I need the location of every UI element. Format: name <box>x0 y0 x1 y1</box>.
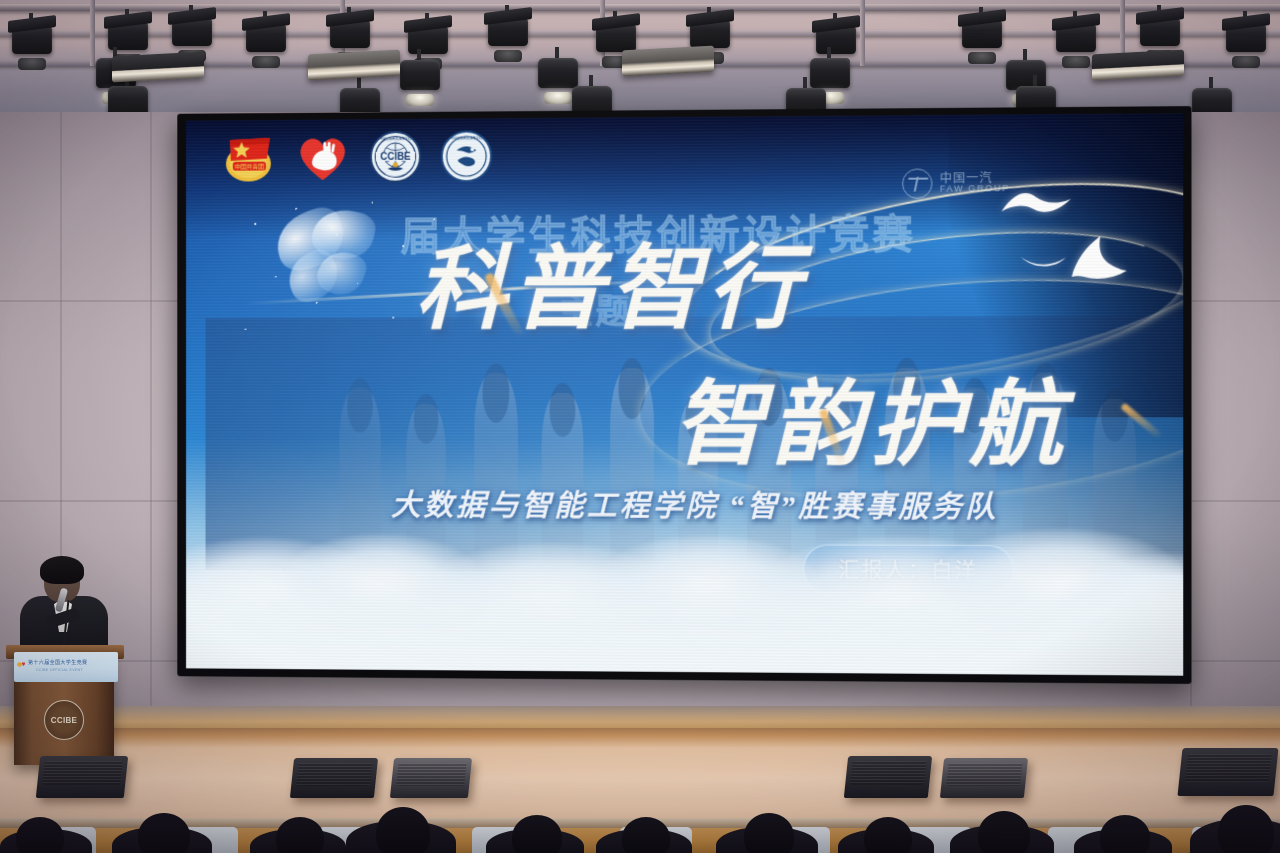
volunteer-heart-hand-logo-icon <box>295 133 350 183</box>
stage-monitor-speaker <box>290 758 378 798</box>
slide-title-line2: 智韵护航 <box>673 350 1069 484</box>
panel-light-icon <box>1092 50 1184 81</box>
slide-title-line1: 科普智行 <box>416 214 806 348</box>
stage-monitor-speaker <box>940 758 1028 798</box>
audience-head <box>1218 805 1274 853</box>
svg-text:中国共青团: 中国共青团 <box>235 163 264 171</box>
butterfly-icon <box>274 207 392 316</box>
spotlight-icon <box>962 16 1002 58</box>
audience-head <box>864 817 912 853</box>
podium-banner-logo-icon <box>17 655 26 662</box>
svg-text:中国国际商务教育学院: 中国国际商务教育学院 <box>380 136 412 141</box>
stage-monitor-speaker <box>844 756 932 798</box>
svg-text:中国国际商务教育学院: 中国国际商务教育学院 <box>451 136 483 141</box>
spotlight-icon <box>572 84 612 112</box>
spotlight-icon <box>488 14 528 56</box>
audience-head <box>276 817 324 853</box>
audience-head <box>1100 815 1150 853</box>
svg-text:CCIBE: CCIBE <box>380 152 411 163</box>
audience-head <box>138 813 190 853</box>
podium-banner-subtext: CCIBE OFFICIAL EVENT <box>36 668 83 672</box>
auditorium-stage-photo: 中国共青团 <box>0 0 1280 853</box>
audience-row <box>0 806 1280 853</box>
spotlight-icon <box>246 20 286 62</box>
podium-emblem: CCIBE <box>44 700 84 740</box>
faw-name-en: FAW GROUP <box>940 184 1010 194</box>
audience-head <box>744 813 794 853</box>
spotlight-icon <box>340 86 380 112</box>
stage-monitor-speaker <box>1177 748 1278 796</box>
spotlight-icon <box>400 58 440 100</box>
spotlight-icon <box>1226 20 1266 62</box>
logo-row: 中国共青团 <box>221 131 492 184</box>
stage-monitor-speaker <box>390 758 472 798</box>
communist-youth-league-emblem-icon: 中国共青团 <box>221 132 276 184</box>
audience-head <box>622 817 670 853</box>
stage-monitor-speaker <box>36 756 128 798</box>
panel-light-icon <box>308 50 400 81</box>
spotlight-icon <box>1192 86 1232 112</box>
panel-light-icon <box>622 46 714 77</box>
slide-surface: 中国共青团 <box>186 113 1183 675</box>
podium-banner-text: 第十六届全国大学生竞赛 <box>28 659 112 666</box>
spotlight-icon <box>1056 20 1096 62</box>
faw-group-logo: 中国一汽 FAW GROUP <box>902 168 1010 199</box>
spotlight-icon <box>172 14 212 56</box>
blue-institution-seal-icon: 中国国际商务教育学院 <box>441 131 492 183</box>
ceiling-lighting-rig <box>0 0 1280 112</box>
audience-head <box>512 815 562 853</box>
ccibe-university-seal-icon: CCIBE 中国国际商务教育学院 <box>370 131 421 183</box>
audience-head <box>978 811 1030 853</box>
faw-mark-icon <box>902 168 932 198</box>
panel-light-icon <box>112 52 204 83</box>
spotlight-icon <box>108 84 148 112</box>
cloud-bank <box>186 471 1183 676</box>
spotlight-icon <box>12 22 52 64</box>
audience-head <box>16 817 64 853</box>
audience-head <box>376 807 430 853</box>
podium-banner: 第十六届全国大学生竞赛 CCIBE OFFICIAL EVENT <box>14 652 118 682</box>
led-presentation-screen[interactable]: 中国共青团 <box>177 106 1191 684</box>
